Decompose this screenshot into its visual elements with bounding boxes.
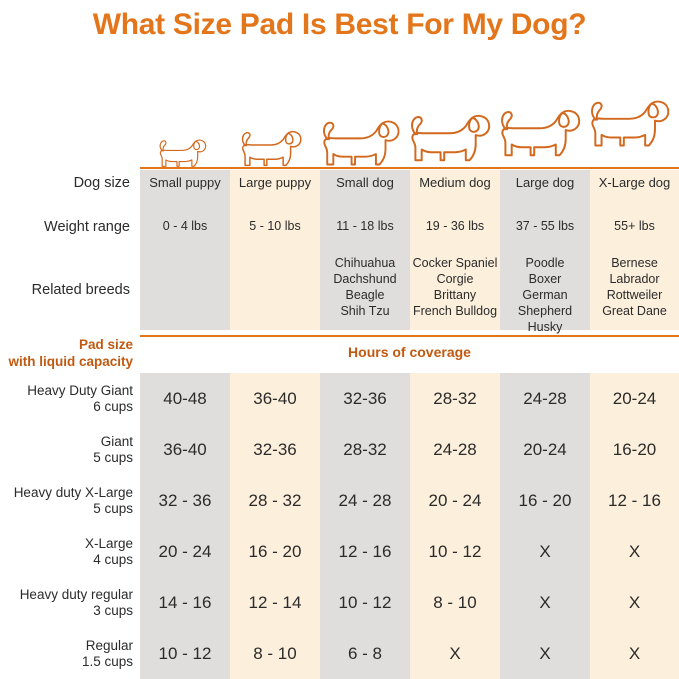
cell-line: Corgie [437, 272, 474, 286]
dog-silhouette-3 [320, 72, 410, 169]
coverage-cell: 32-36 [230, 424, 320, 475]
coverage-cell: 20 - 24 [140, 526, 230, 577]
coverage-cell: X [410, 628, 500, 679]
coverage-cell: X [590, 526, 679, 577]
pad-size-row-label: Heavy Duty Giant6 cups [0, 383, 133, 415]
dog-baseline-rule [140, 167, 679, 169]
coverage-cell: 10 - 12 [410, 526, 500, 577]
pad-name: X-Large [85, 536, 133, 551]
cell-breeds-medium-dog: Cocker SpanielCorgieBrittanyFrench Bulld… [410, 255, 500, 319]
cell-size-large-puppy: Large puppy [230, 175, 320, 190]
pad-capacity: 3 cups [93, 603, 133, 618]
coverage-cell: 8 - 10 [410, 577, 500, 628]
row-label-weight-range: Weight range [0, 219, 130, 235]
coverage-cell: 36-40 [140, 424, 230, 475]
coverage-cell: 32 - 36 [140, 475, 230, 526]
header-stripe-large-puppy [230, 170, 320, 330]
cell-line: 0 - 4 lbs [163, 219, 207, 233]
cell-line: 37 - 55 lbs [516, 219, 574, 233]
cell-weight-x-large-dog: 55+ lbs [590, 219, 679, 234]
dog-silhouette-4 [410, 72, 500, 169]
coverage-cell: 10 - 12 [320, 577, 410, 628]
cell-breeds-small-dog: ChihuahuaDachshundBeagleShih Tzu [320, 255, 410, 319]
pad-size-row-label: Giant5 cups [0, 434, 133, 466]
cell-line: Brittany [434, 288, 476, 302]
coverage-cell: 6 - 8 [320, 628, 410, 679]
cell-line: Large dog [516, 175, 575, 190]
cell-line: Beagle [346, 288, 385, 302]
coverage-cell: 28-32 [320, 424, 410, 475]
dog-silhouette-5 [500, 72, 590, 169]
infographic-page: What Size Pad Is Best For My Dog? Dog si… [0, 0, 679, 679]
dog-illustrations-row [140, 72, 679, 169]
cell-line: Poodle [526, 256, 565, 270]
pad-capacity: 1.5 cups [82, 654, 133, 669]
coverage-cell: X [500, 526, 590, 577]
cell-line: Husky [528, 320, 563, 334]
coverage-cell: 14 - 16 [140, 577, 230, 628]
coverage-cell: 12 - 16 [320, 526, 410, 577]
cell-line: Bernese [611, 256, 658, 270]
cell-line: 5 - 10 lbs [249, 219, 300, 233]
coverage-cell: 10 - 12 [140, 628, 230, 679]
cell-size-small-puppy: Small puppy [140, 175, 230, 190]
table-row: Heavy duty regular3 cups14 - 1612 - 1410… [0, 577, 679, 628]
pad-size-row-label: Heavy duty regular3 cups [0, 587, 133, 619]
cell-line: 55+ lbs [614, 219, 655, 233]
cell-size-x-large-dog: X-Large dog [590, 175, 679, 190]
pad-capacity: 5 cups [93, 501, 133, 516]
cell-size-small-dog: Small dog [320, 175, 410, 190]
coverage-cell: 20-24 [500, 424, 590, 475]
coverage-cell: 28-32 [410, 373, 500, 424]
hours-of-coverage-header: Hours of coverage [140, 344, 679, 360]
pad-name: Heavy Duty Giant [27, 383, 133, 398]
dog-silhouette-6 [590, 72, 679, 169]
coverage-cell: 24-28 [500, 373, 590, 424]
coverage-cell: X [590, 628, 679, 679]
pad-name: Regular [86, 638, 133, 653]
row-label-related-breeds: Related breeds [0, 282, 130, 298]
cell-weight-medium-dog: 19 - 36 lbs [410, 219, 500, 234]
cell-weight-large-puppy: 5 - 10 lbs [230, 219, 320, 234]
cell-breeds-large-dog: PoodleBoxerGermanShepherdHusky [500, 255, 590, 335]
coverage-cell: 20-24 [590, 373, 679, 424]
cell-weight-large-dog: 37 - 55 lbs [500, 219, 590, 234]
cell-line: Chihuahua [335, 256, 395, 270]
coverage-cell: 8 - 10 [230, 628, 320, 679]
cell-size-medium-dog: Medium dog [410, 175, 500, 190]
coverage-cell: 20 - 24 [410, 475, 500, 526]
table-row: Heavy duty X-Large5 cups32 - 3628 - 3224… [0, 475, 679, 526]
coverage-cell: 12 - 14 [230, 577, 320, 628]
cell-line: Medium dog [419, 175, 491, 190]
cell-line: 11 - 18 lbs [336, 219, 393, 233]
row-label-dog-size: Dog size [0, 175, 130, 191]
cell-weight-small-puppy: 0 - 4 lbs [140, 219, 230, 234]
pad-name: Heavy duty X-Large [14, 485, 133, 500]
coverage-cell: 12 - 16 [590, 475, 679, 526]
coverage-cell: 40-48 [140, 373, 230, 424]
dog-silhouette-1 [140, 72, 230, 169]
cell-line: Small puppy [149, 175, 221, 190]
pad-name: Giant [101, 434, 133, 449]
cell-line: French Bulldog [413, 304, 497, 318]
pad-capacity: 4 cups [93, 552, 133, 567]
pad-capacity: 6 cups [93, 399, 133, 414]
cell-line: X-Large dog [599, 175, 671, 190]
cell-line: Shih Tzu [340, 304, 389, 318]
pad-size-row-label: Heavy duty X-Large5 cups [0, 485, 133, 517]
table-row: Heavy Duty Giant6 cups40-4836-4032-3628-… [0, 373, 679, 424]
coverage-cell: X [500, 577, 590, 628]
table-row: Giant5 cups36-4032-3628-3224-2820-2416-2… [0, 424, 679, 475]
cell-line: 19 - 36 lbs [426, 219, 484, 233]
pad-size-line1: Pad size [79, 337, 133, 352]
coverage-cell: 32-36 [320, 373, 410, 424]
coverage-cell: 36-40 [230, 373, 320, 424]
coverage-cell: X [500, 628, 590, 679]
coverage-cell: 24-28 [410, 424, 500, 475]
dog-silhouette-2 [230, 72, 320, 169]
cell-weight-small-dog: 11 - 18 lbs [320, 219, 410, 234]
cell-line: Small dog [336, 175, 394, 190]
table-row: X-Large4 cups20 - 2416 - 2012 - 1610 - 1… [0, 526, 679, 577]
cell-line: Great Dane [602, 304, 667, 318]
page-title: What Size Pad Is Best For My Dog? [0, 8, 679, 42]
pad-size-row-label: Regular1.5 cups [0, 638, 133, 670]
pad-capacity: 5 cups [93, 450, 133, 465]
section-divider-rule [140, 335, 679, 337]
coverage-cell: 28 - 32 [230, 475, 320, 526]
cell-line: Shepherd [518, 304, 572, 318]
cell-line: Dachshund [333, 272, 396, 286]
coverage-cell: 16 - 20 [230, 526, 320, 577]
cell-line: German [522, 288, 567, 302]
cell-line: Boxer [529, 272, 562, 286]
cell-size-large-dog: Large dog [500, 175, 590, 190]
coverage-cell: X [590, 577, 679, 628]
cell-breeds-x-large-dog: BerneseLabradorRottweilerGreat Dane [590, 255, 679, 319]
cell-line: Rottweiler [607, 288, 663, 302]
pad-size-line2: with liquid capacity [8, 354, 133, 369]
cell-line: Labrador [609, 272, 659, 286]
pad-size-row-label: X-Large4 cups [0, 536, 133, 568]
pad-name: Heavy duty regular [20, 587, 133, 602]
table-row: Regular1.5 cups10 - 128 - 106 - 8XXX [0, 628, 679, 679]
coverage-cell: 16-20 [590, 424, 679, 475]
cell-line: Cocker Spaniel [413, 256, 498, 270]
pad-size-header: Pad size with liquid capacity [0, 336, 133, 370]
coverage-cell: 24 - 28 [320, 475, 410, 526]
cell-line: Large puppy [239, 175, 311, 190]
header-stripe-small-puppy [140, 170, 230, 330]
coverage-cell: 16 - 20 [500, 475, 590, 526]
